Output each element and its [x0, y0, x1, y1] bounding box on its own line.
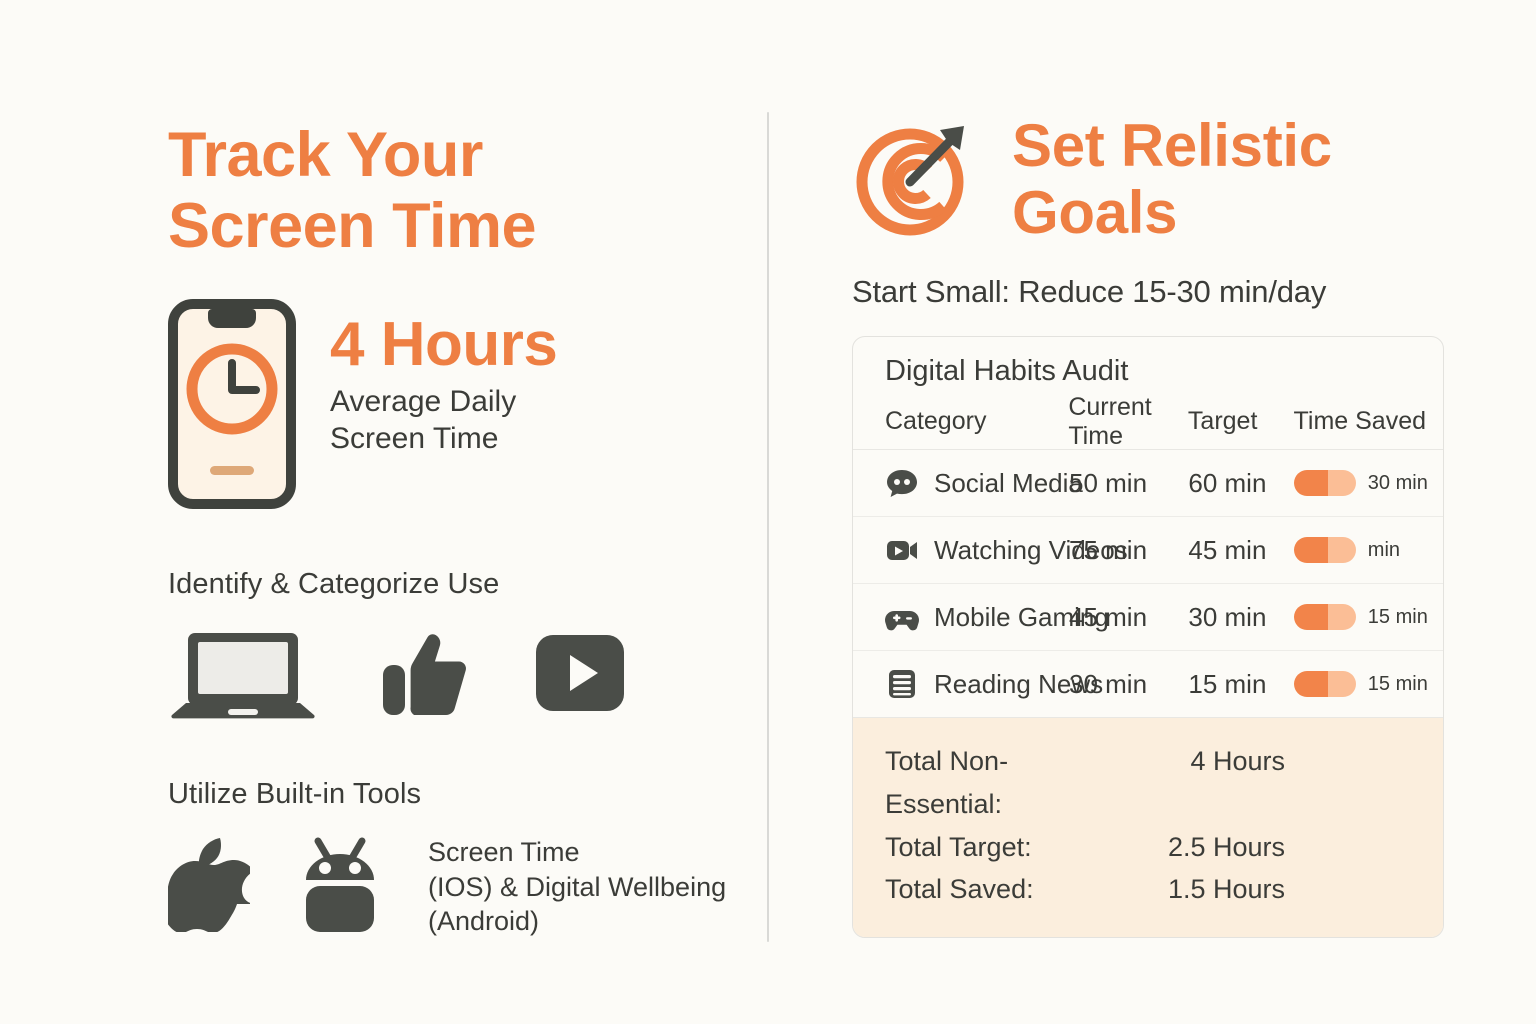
row-current-time: 45 min [1069, 602, 1188, 633]
news-list-icon [885, 667, 919, 701]
row-target-time: 60 min [1188, 468, 1293, 499]
totals-value: 1.5 Hours [1085, 868, 1285, 911]
time-saved-pill [1294, 470, 1356, 496]
totals-label: Total Non-Essential: [853, 740, 1085, 825]
hero-caption: Average Daily Screen Time [330, 384, 557, 457]
table-header-row: Category Current Time Target Time Saved [853, 394, 1443, 450]
left-title: Track Your Screen Time [168, 112, 728, 261]
target-arrow-icon [852, 120, 980, 245]
time-saved-label: min [1368, 539, 1400, 562]
time-saved-label: 15 min [1368, 673, 1428, 696]
row-target-time: 45 min [1188, 535, 1293, 566]
hero-number: 4 Hours [330, 313, 557, 376]
table-row[interactable]: Mobile Gaming 45 min 30 min 15 min [853, 584, 1443, 651]
row-category-label: Social Media [934, 468, 1083, 499]
totals-label: Total Target: [853, 826, 1085, 869]
chat-bubble-icon [885, 466, 919, 500]
left-column: Track Your Screen Time 4 Hours Average D… [168, 112, 728, 942]
column-header-time-saved: Time Saved [1294, 407, 1443, 436]
column-divider [767, 112, 769, 942]
totals-row: Total Target: 2.5 Hours [853, 826, 1443, 869]
row-target-time: 15 min [1188, 669, 1293, 700]
totals-row: Total Saved: 1.5 Hours [853, 868, 1443, 911]
right-title: Set Relistic Goals [1012, 112, 1332, 246]
tools-text: Screen Time (IOS) & Digital Wellbeing (A… [428, 835, 726, 939]
apple-logo-icon [168, 836, 250, 937]
identify-icon-row [168, 627, 728, 724]
row-current-time: 30 min [1069, 669, 1188, 700]
totals-label: Total Saved: [853, 868, 1085, 911]
row-current-time: 75 min [1069, 535, 1188, 566]
time-saved-label: 30 min [1368, 472, 1428, 495]
phone-clock-icon [168, 299, 296, 514]
time-saved-pill [1294, 671, 1356, 697]
video-camera-icon [885, 533, 919, 567]
row-current-time: 50 min [1069, 468, 1188, 499]
column-header-target: Target [1188, 407, 1294, 436]
totals-value: 4 Hours [1085, 740, 1285, 825]
column-header-category: Category [853, 407, 1068, 436]
totals-value: 2.5 Hours [1085, 826, 1285, 869]
right-subtitle: Start Small: Reduce 15-30 min/day [852, 274, 1452, 310]
hero-row: 4 Hours Average Daily Screen Time [168, 297, 728, 514]
table-row[interactable]: Watching Videos 75 min 45 min min [853, 517, 1443, 584]
tools-heading: Utilize Built-in Tools [168, 778, 728, 811]
time-saved-label: 15 min [1368, 606, 1428, 629]
card-title: Digital Habits Audit [853, 337, 1443, 394]
hero-text-block: 4 Hours Average Daily Screen Time [330, 297, 557, 457]
column-header-current: Current Time [1068, 393, 1188, 451]
totals-row: Total Non-Essential: 4 Hours [853, 740, 1443, 825]
infographic-canvas: Track Your Screen Time 4 Hours Average D… [0, 0, 1536, 1024]
right-column: Set Relistic Goals Start Small: Reduce 1… [852, 112, 1452, 942]
identify-heading: Identify & Categorize Use [168, 568, 728, 601]
laptop-icon [168, 627, 318, 724]
table-row[interactable]: Reading News 30 min 15 min 15 min [853, 651, 1443, 718]
totals-panel: Total Non-Essential: 4 Hours Total Targe… [853, 718, 1443, 937]
android-robot-icon [298, 836, 382, 937]
thumbs-up-icon [380, 627, 470, 724]
gamepad-icon [885, 600, 919, 634]
audit-table: Category Current Time Target Time Saved [853, 394, 1443, 718]
time-saved-pill [1294, 537, 1356, 563]
digital-habits-audit-card: Digital Habits Audit Category Current Ti… [852, 336, 1444, 938]
right-header: Set Relistic Goals [852, 112, 1452, 246]
row-target-time: 30 min [1188, 602, 1293, 633]
tools-row: Screen Time (IOS) & Digital Wellbeing (A… [168, 835, 728, 939]
video-play-icon [532, 627, 628, 724]
table-row[interactable]: Social Media 50 min 60 min 30 min [853, 450, 1443, 517]
time-saved-pill [1294, 604, 1356, 630]
